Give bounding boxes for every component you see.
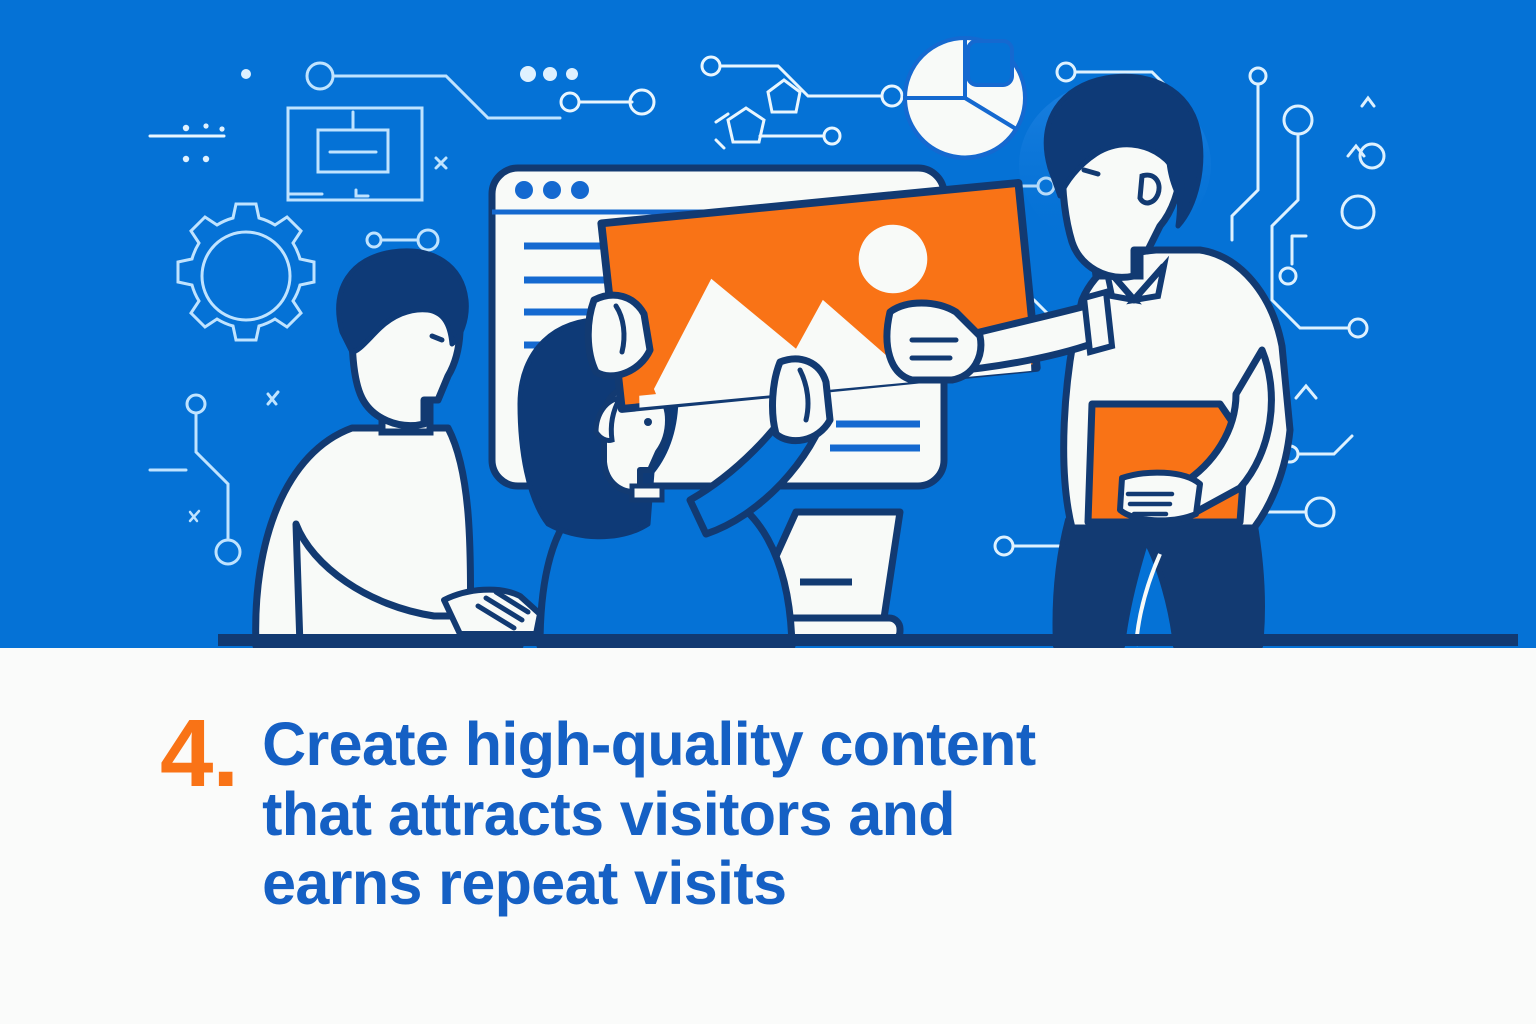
desk-line [218,634,1518,646]
headline-line-3: earns repeat visits [262,849,1035,919]
page-title: Create high-quality content that attract… [262,710,1035,919]
woman-hand-left [588,295,650,376]
woman-hand-right [773,359,830,441]
headline-line-2: that attracts visitors and [262,780,1035,850]
pie-chart-icon [905,38,1025,158]
caption-section: 4. Create high-quality content that attr… [0,648,1536,1024]
window-dots[interactable] [515,181,589,199]
step-number: 4. [160,710,238,798]
hip-hand [1120,473,1200,521]
illustration-artwork [0,0,1536,648]
illustration-panel [0,0,1536,648]
headline-line-1: Create high-quality content [262,710,1035,780]
slide-canvas: 4. Create high-quality content that attr… [0,0,1536,1024]
